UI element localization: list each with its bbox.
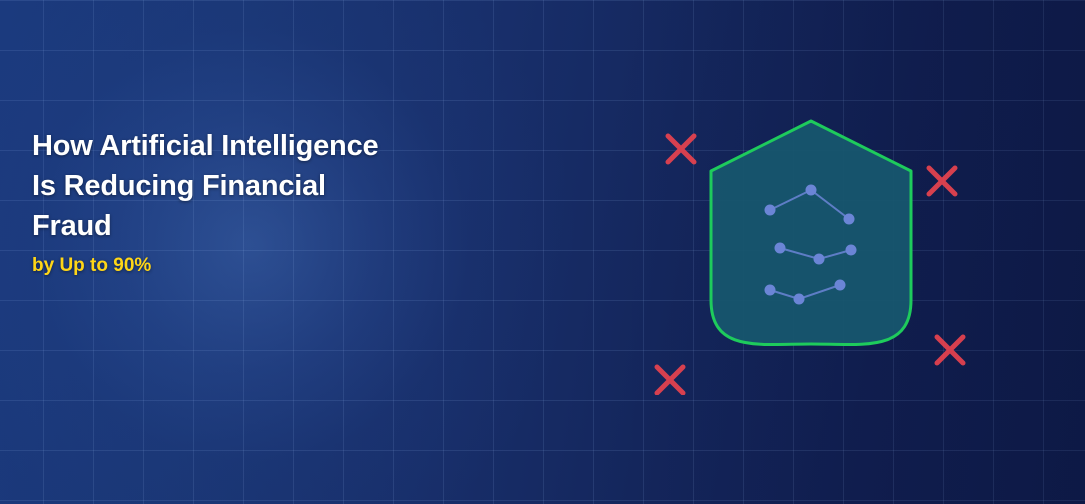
page-title-line-1: How Artificial Intelligence	[32, 130, 378, 162]
page-title-line-2: Is Reducing Financial	[32, 170, 326, 202]
page-title-line-3: Fraud	[32, 210, 112, 242]
network-node	[794, 294, 805, 305]
shield-svg	[640, 95, 980, 395]
network-node	[844, 214, 855, 225]
network-node	[835, 280, 846, 291]
fraud-x-top-left-icon	[668, 136, 694, 162]
network-node	[765, 205, 776, 216]
banner-root: How Artificial Intelligence Is Reducing …	[0, 0, 1085, 504]
fraud-x-bottom-left-icon	[657, 367, 683, 393]
headline-block: How Artificial Intelligence Is Reducing …	[32, 126, 462, 278]
network-node	[814, 254, 825, 265]
shield-icon	[711, 121, 911, 345]
page-title: How Artificial Intelligence Is Reducing …	[32, 126, 462, 246]
fraud-x-bottom-right-icon	[937, 337, 963, 363]
network-node	[765, 285, 776, 296]
network-node	[806, 185, 817, 196]
fraud-detection-shield-graphic	[640, 95, 980, 395]
network-node	[846, 245, 857, 256]
page-subtitle: by Up to 90%	[32, 254, 462, 278]
fraud-x-top-right-icon	[929, 168, 955, 194]
network-node	[775, 243, 786, 254]
